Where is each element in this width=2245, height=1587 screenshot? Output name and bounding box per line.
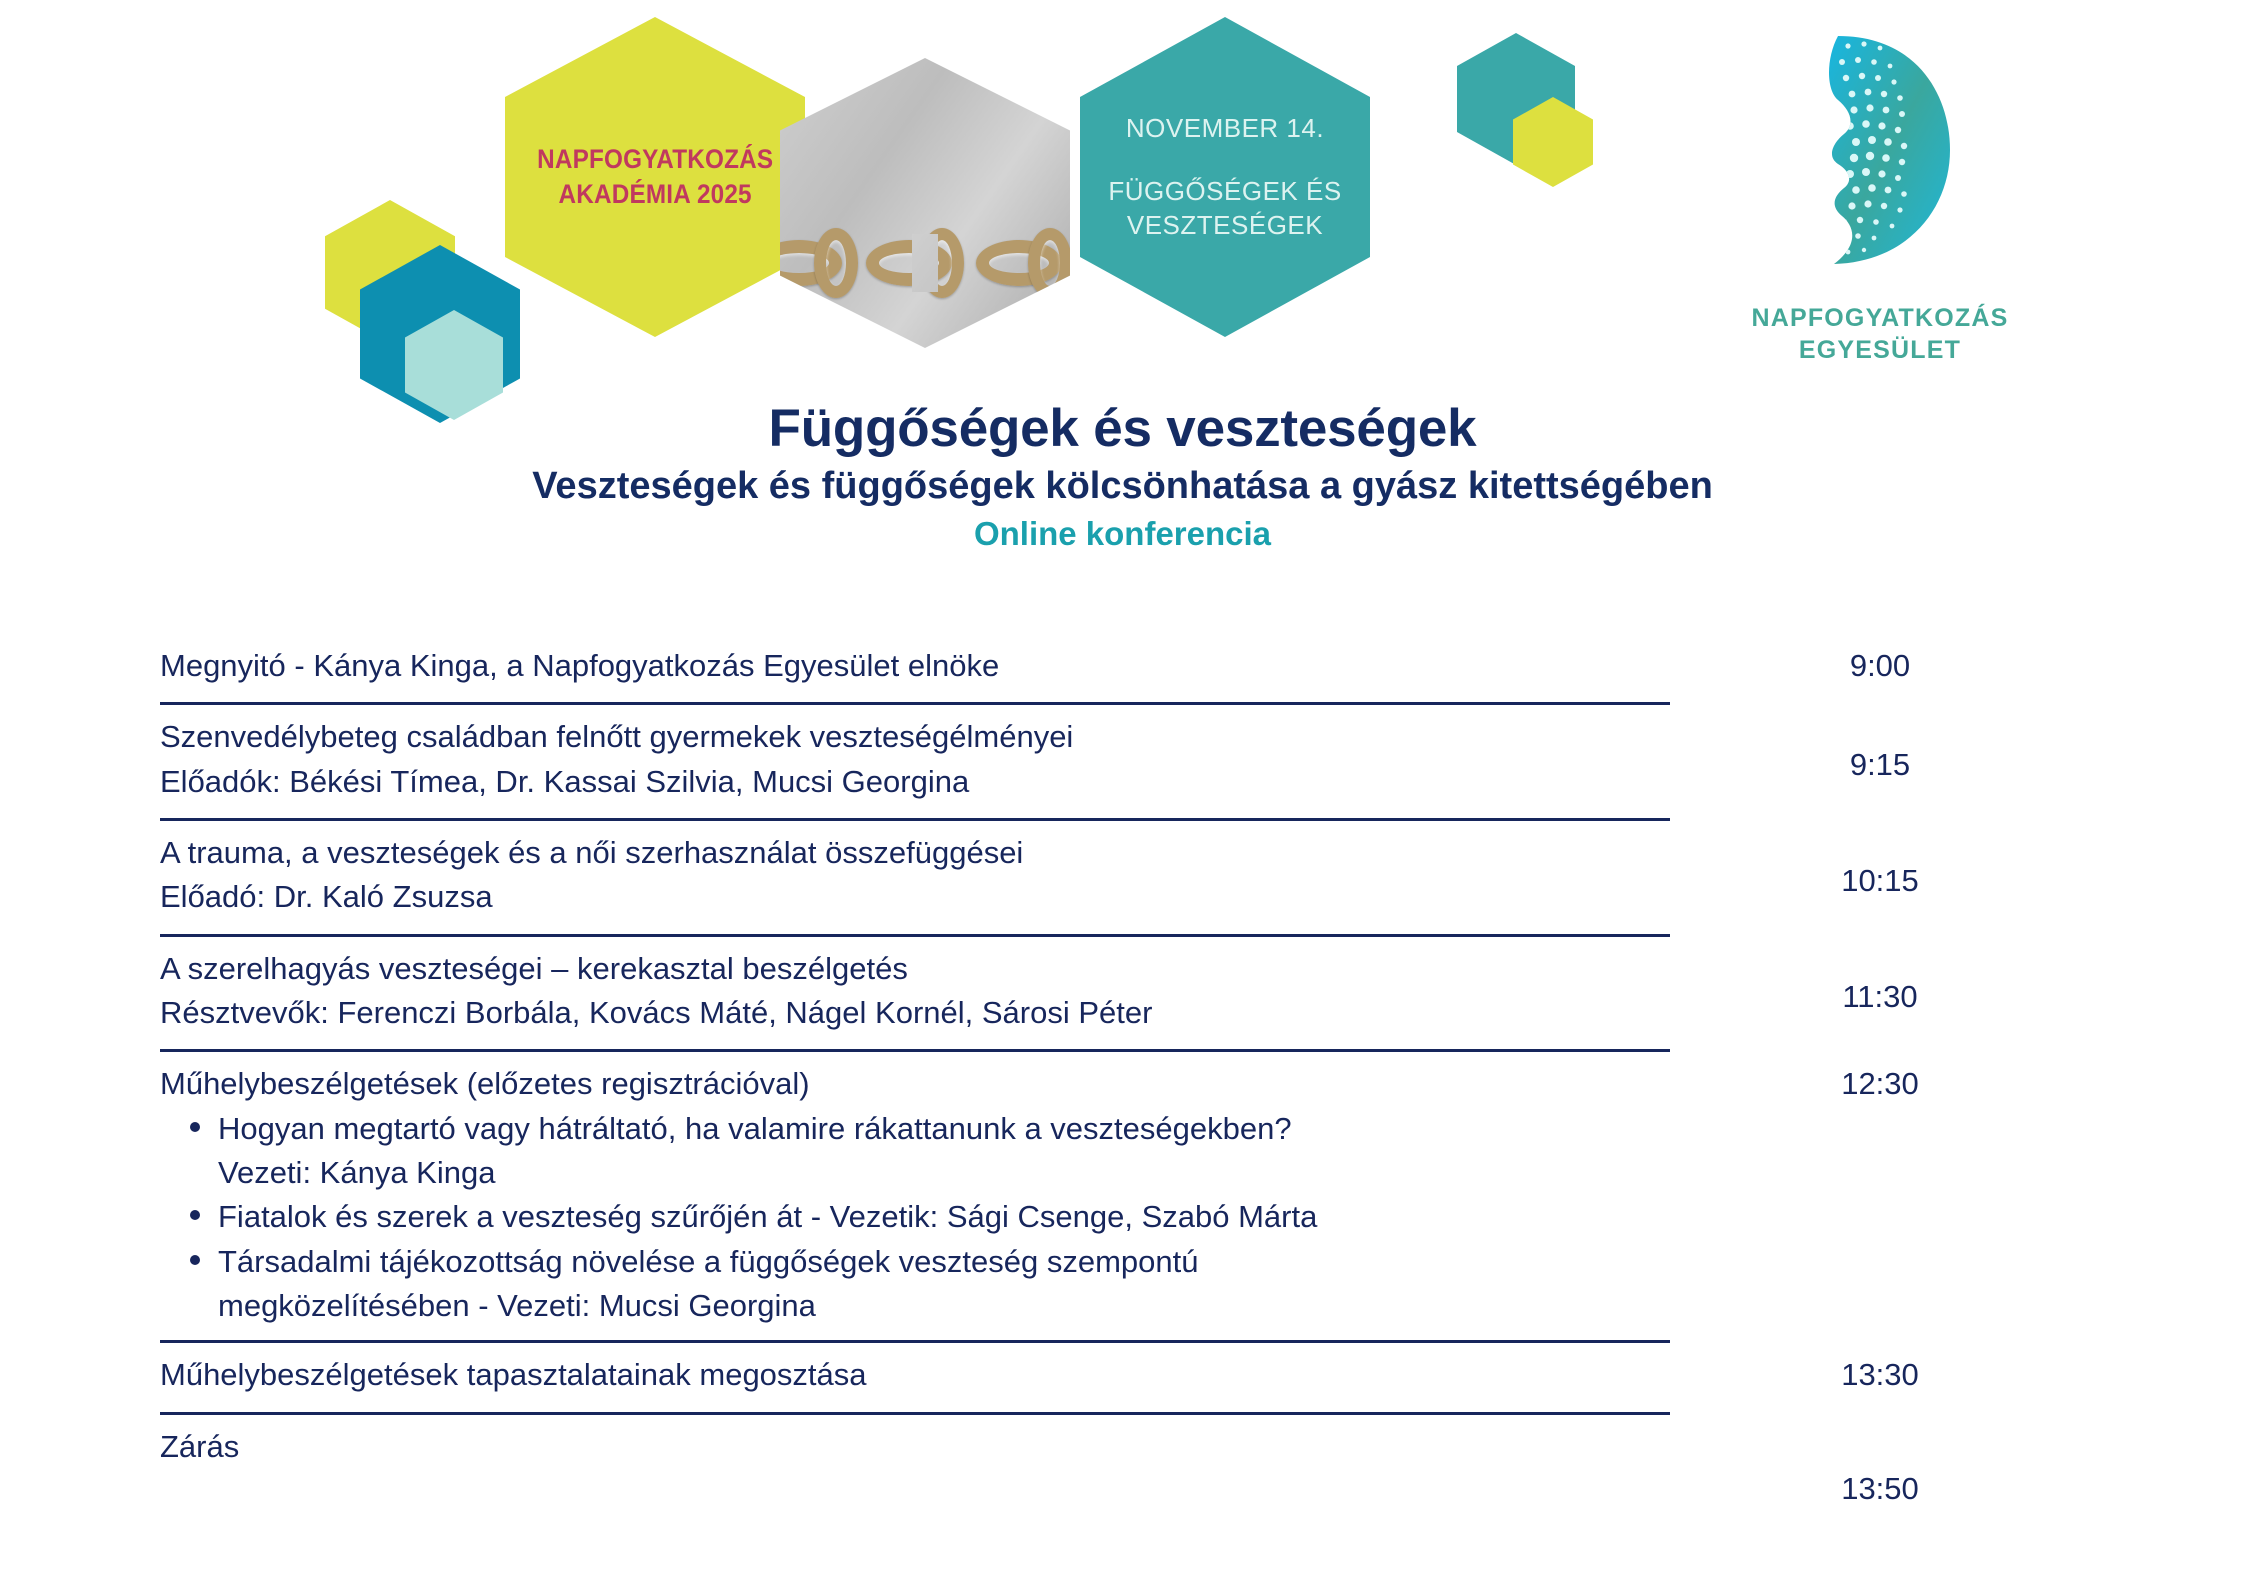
date-badge-theme-line1: FÜGGŐSÉGEK ÉS: [1108, 175, 1341, 208]
schedule-row-line: Résztvevők: Ferenczi Borbála, Kovács Mát…: [160, 991, 1670, 1035]
crescent-moon-face-icon: [1768, 30, 1953, 270]
workshop-list: Hogyan megtartó vagy hátráltató, ha vala…: [160, 1107, 1670, 1329]
schedule-row: A szerelhagyás veszteségei – kerekasztal…: [160, 937, 2090, 1050]
schedule-row-line: A szerelhagyás veszteségei – kerekasztal…: [160, 947, 1670, 991]
list-item: Hogyan megtartó vagy hátráltató, ha vala…: [218, 1107, 1670, 1196]
schedule-row-line: A trauma, a veszteségek és a női szerhas…: [160, 831, 1670, 875]
list-item: Társadalmi tájékozottság növelése a függ…: [218, 1240, 1670, 1329]
schedule-row-description: Megnyitó - Kánya Kinga, a Napfogyatkozás…: [160, 644, 1670, 688]
list-item-label: Hogyan megtartó vagy hátráltató, ha vala…: [218, 1111, 1292, 1146]
chain-link: [1028, 228, 1070, 298]
date-badge-text: NOVEMBER 14. FÜGGŐSÉGEK ÉS VESZTESÉGEK: [1108, 112, 1341, 242]
schedule-row-time: 10:15: [1670, 865, 2090, 896]
schedule-row-description: Zárás: [160, 1425, 1670, 1469]
schedule-row-line: Előadók: Békési Tímea, Dr. Kassai Szilvi…: [160, 760, 1670, 804]
schedule-row-description: Szenvedélybeteg családban felnőtt gyerme…: [160, 715, 1670, 804]
schedule-row: Zárás13:50: [160, 1415, 2090, 1514]
schedule-row: A trauma, a veszteségek és a női szerhas…: [160, 821, 2090, 934]
list-item: Fiatalok és szerek a veszteség szűrőjén …: [218, 1195, 1670, 1239]
schedule-row-time: 13:50: [1670, 1473, 2090, 1504]
schedule-row-line: Megnyitó - Kánya Kinga, a Napfogyatkozás…: [160, 644, 1670, 688]
academy-badge-text: NAPFOGYATKOZÁS AKADÉMIA 2025: [537, 142, 773, 212]
academy-badge-hexagon: NAPFOGYATKOZÁS AKADÉMIA 2025: [505, 17, 805, 337]
schedule-row-time: 9:00: [1670, 650, 2090, 681]
logo-name-line2: EGYESÜLET: [1799, 336, 1961, 364]
schedule-row-description: Műhelybeszélgetések tapasztalatainak meg…: [160, 1353, 1670, 1397]
schedule-row: Műhelybeszélgetések tapasztalatainak meg…: [160, 1343, 2090, 1411]
chain-icon: [780, 208, 1070, 318]
schedule-row-line: Előadó: Dr. Kaló Zsuzsa: [160, 875, 1670, 919]
schedule-row-line: Zárás: [160, 1425, 1670, 1469]
page-subtitle: Veszteségek és függőségek kölcsönhatása …: [0, 465, 2245, 508]
schedule-row-line: Szenvedélybeteg családban felnőtt gyerme…: [160, 715, 1670, 759]
schedule-row-description: A trauma, a veszteségek és a női szerhas…: [160, 831, 1670, 920]
date-badge-date: NOVEMBER 14.: [1126, 113, 1324, 143]
bullet-icon: [190, 1122, 200, 1132]
chain-link: [814, 228, 858, 298]
date-badge-hexagon: NOVEMBER 14. FÜGGŐSÉGEK ÉS VESZTESÉGEK: [1080, 17, 1370, 337]
schedule-row-time: 12:30: [1670, 1068, 2090, 1099]
title-block: Függőségek és veszteségek Veszteségek és…: [0, 398, 2245, 553]
logo-name-line1: NAPFOGYATKOZÁS: [1751, 304, 2008, 332]
bullet-icon: [190, 1255, 200, 1265]
schedule-row: Műhelybeszélgetések (előzetes regisztrác…: [160, 1052, 2090, 1340]
list-item-label: Társadalmi tájékozottság növelése a függ…: [218, 1244, 1199, 1279]
academy-badge-line2: AKADÉMIA 2025: [558, 179, 751, 209]
schedule-row-time: 11:30: [1670, 981, 2090, 1012]
schedule-table: Megnyitó - Kánya Kinga, a Napfogyatkozás…: [160, 638, 2090, 1514]
page-format-label: Online konferencia: [0, 515, 2245, 553]
organization-logo: NAPFOGYATKOZÁS EGYESÜLET: [1730, 20, 2030, 380]
schedule-row-line: Műhelybeszélgetések tapasztalatainak meg…: [160, 1353, 1670, 1397]
schedule-row-line: Műhelybeszélgetések (előzetes regisztrác…: [160, 1062, 1670, 1106]
academy-badge-line1: NAPFOGYATKOZÁS: [537, 144, 773, 174]
broken-chain-image-hexagon: [780, 58, 1070, 348]
schedule-row-description: Műhelybeszélgetések (előzetes regisztrác…: [160, 1062, 1670, 1328]
logo-wordmark: NAPFOGYATKOZÁS EGYESÜLET: [1730, 302, 2030, 366]
date-badge-theme-line2: VESZTESÉGEK: [1127, 210, 1323, 240]
bullet-icon: [190, 1210, 200, 1220]
schedule-row: Megnyitó - Kánya Kinga, a Napfogyatkozás…: [160, 638, 2090, 702]
page-title: Függőségek és veszteségek: [0, 398, 2245, 459]
schedule-row: Szenvedélybeteg családban felnőtt gyerme…: [160, 705, 2090, 818]
schedule-row-time: 13:30: [1670, 1359, 2090, 1390]
list-item-label: Fiatalok és szerek a veszteség szűrőjén …: [218, 1199, 1317, 1234]
list-item-sublabel: megközelítésében - Vezeti: Mucsi Georgin…: [218, 1284, 1670, 1328]
chain-break-gap: [912, 234, 938, 292]
list-item-sublabel: Vezeti: Kánya Kinga: [218, 1151, 1670, 1195]
schedule-row-time: 9:15: [1670, 749, 2090, 780]
schedule-row-description: A szerelhagyás veszteségei – kerekasztal…: [160, 947, 1670, 1036]
